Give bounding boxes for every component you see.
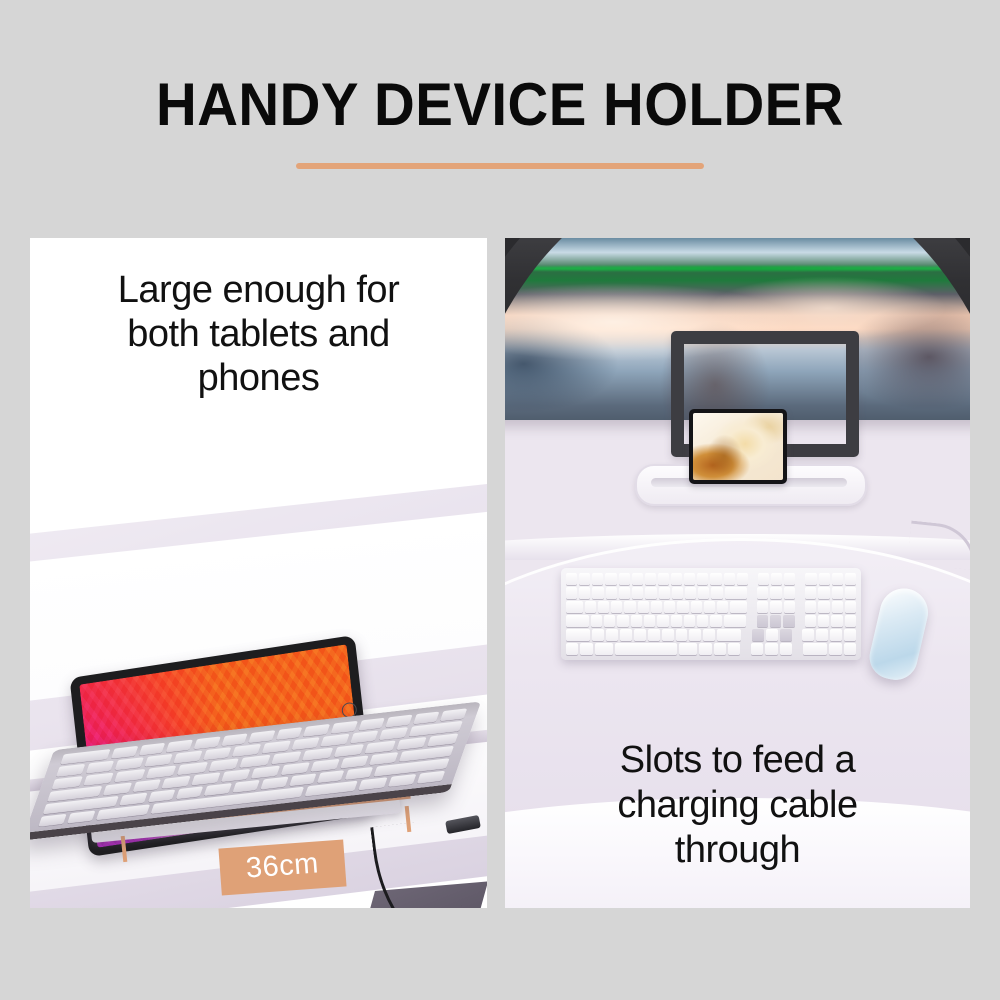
caption-line: through	[519, 828, 956, 873]
keyboard-row	[566, 601, 856, 613]
dimension-label-badge: 36cm	[218, 839, 346, 895]
caption-line: Large enough for	[48, 268, 469, 312]
panel-right-caption: Slots to feed a charging cable through	[519, 738, 956, 873]
caption-line: both tablets and	[48, 312, 469, 356]
caption-line: charging cable	[519, 783, 956, 828]
tablet-screen-wallpaper	[693, 413, 783, 480]
keyboard-row	[566, 587, 856, 599]
full-size-keyboard	[561, 568, 861, 660]
desk-cable	[907, 521, 970, 571]
title-divider	[296, 163, 704, 169]
keyboard-row	[566, 629, 856, 641]
page-header: HANDY DEVICE HOLDER	[0, 0, 1000, 200]
caption-line: Slots to feed a	[519, 738, 956, 783]
caption-line: phones	[48, 356, 469, 400]
keyboard-row	[566, 573, 856, 585]
panel-right: Slots to feed a charging cable through	[505, 238, 970, 908]
panel-left: 36cm Large enough for	[30, 238, 487, 908]
page-title: HANDY DEVICE HOLDER	[30, 74, 970, 136]
tablet-device	[689, 409, 787, 484]
keyboard-row	[566, 615, 856, 627]
panel-left-caption: Large enough for both tablets and phones	[48, 268, 469, 400]
keyboard-row	[566, 643, 856, 655]
